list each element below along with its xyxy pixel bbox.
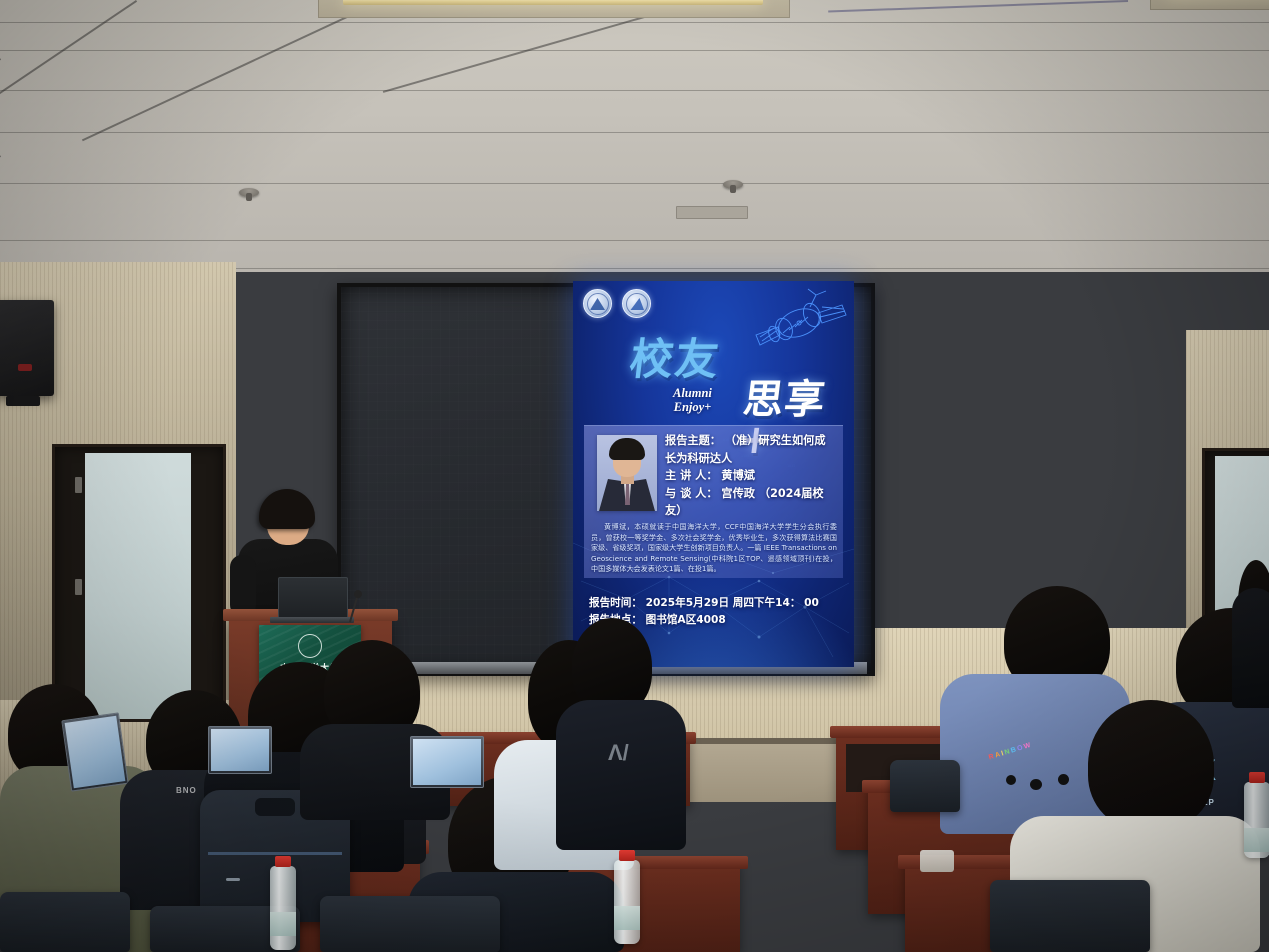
ceiling-light-panel-right [1150, 0, 1269, 10]
bottle-label [270, 912, 296, 936]
crumpled-paper [920, 850, 954, 872]
chair[interactable] [0, 892, 130, 952]
water-bottle[interactable] [614, 860, 640, 944]
presentation-slide: 01011100 01101011 00111001 [573, 281, 854, 667]
audience-person-head [1088, 700, 1214, 830]
info-line-speaker: 主 讲 人： 黄博斌 [665, 467, 837, 485]
bottle-label [614, 906, 640, 930]
speaker-bracket [6, 396, 40, 406]
chair[interactable] [890, 760, 960, 812]
tshirt-dot-icon [1058, 774, 1069, 785]
ceiling-light-panel [318, 0, 790, 18]
bottle-cap [619, 850, 635, 861]
tshirt-dot-icon [1030, 779, 1042, 790]
presenter-laptop-base [270, 617, 354, 623]
speaker-portrait [597, 435, 657, 511]
chair[interactable] [990, 880, 1150, 952]
chair[interactable] [320, 896, 500, 952]
left-entrance-door[interactable] [52, 444, 226, 722]
door-hinge [75, 477, 82, 493]
slide-logos [583, 289, 651, 318]
ceiling-sprinkler [723, 180, 743, 189]
info-line-topic-2: 长为科研达人 [665, 450, 837, 468]
slide-title-block: 校友 Alumni Enjoy+ 思享+ [573, 339, 854, 427]
left-door-glass [85, 453, 191, 719]
backpack-handle [255, 798, 295, 816]
audience-laptop[interactable] [208, 726, 272, 774]
slide-info-lines: 报告主题： （准）研究生如何成 长为科研达人 主 讲 人： 黄博斌 与 谈 人：… [665, 432, 837, 520]
backpack-zipper [226, 878, 240, 881]
ceiling [0, 0, 1269, 272]
info-line-discussant: 与 谈 人： 宫传政 （2024届校友） [665, 485, 837, 520]
lecture-hall-photo: 01011100 01101011 00111001 [0, 0, 1269, 952]
fluorescent-tube [343, 0, 763, 5]
slide-time-line: 报告时间： 2025年5月29日 周四下午14： 00 [589, 595, 841, 612]
slide-biography: 黄博斌，本硕就读于中国海洋大学，CCF中国海洋大学学生分会执行委员，曾获校一等奖… [591, 522, 837, 575]
ceiling-sprinkler [239, 188, 259, 197]
info-line-topic-1: 报告主题： （准）研究生如何成 [665, 432, 837, 450]
backpack-seam [208, 852, 342, 855]
biography-text: 黄博斌，本硕就读于中国海洋大学，CCF中国海洋大学学生分会执行委员，曾获校一等奖… [591, 522, 837, 573]
secondary-institute-seal-icon [622, 289, 651, 318]
slide-title-en: Alumni Enjoy+ [673, 387, 712, 414]
tshirt-dot-icon [1006, 775, 1016, 785]
ceiling-vent [676, 206, 748, 219]
bottle-cap [275, 856, 291, 867]
audience-laptop[interactable] [61, 712, 128, 791]
wall-mounted-loudspeaker [0, 300, 54, 396]
slide-speaker-card: 报告主题： （准）研究生如何成 长为科研达人 主 讲 人： 黄博斌 与 谈 人：… [584, 425, 843, 578]
slide-title-en-line1: Alumni [673, 387, 712, 401]
tshirt-print-icon: Λ/ [608, 738, 629, 768]
ouc-university-seal-icon [583, 289, 612, 318]
audience-laptop[interactable] [410, 736, 484, 788]
audience-person-torso [1232, 588, 1269, 708]
audience-person-torso [556, 700, 686, 850]
water-bottle[interactable] [1244, 782, 1269, 858]
slide-title-en-line2: Enjoy+ [673, 401, 712, 415]
slide-title-cn-primary: 校友 [627, 339, 722, 382]
door-hinge [75, 579, 82, 595]
bottle-cap [1249, 772, 1265, 783]
speaker-led-indicator [18, 364, 32, 371]
water-bottle[interactable] [270, 866, 296, 950]
presenter-laptop[interactable] [278, 577, 348, 621]
university-seal-icon [298, 634, 322, 658]
hoodie-print-text: BNO [176, 786, 197, 795]
bottle-label [1244, 828, 1269, 852]
